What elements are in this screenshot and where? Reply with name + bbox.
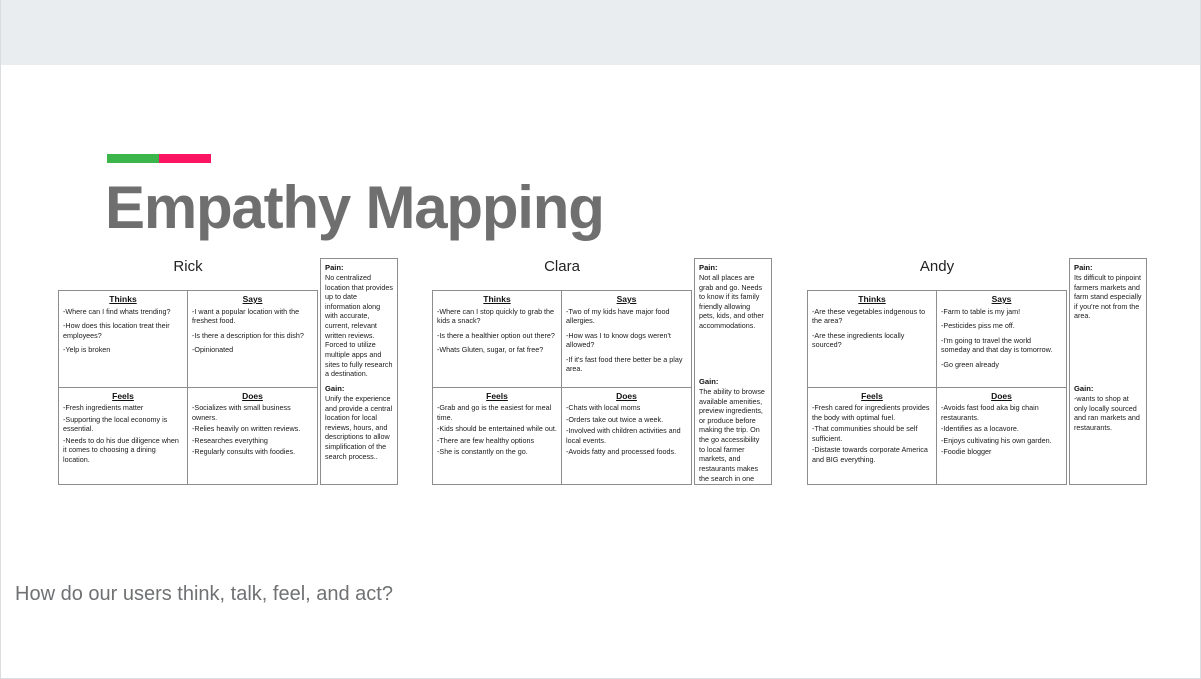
top-toolbar	[1, 0, 1201, 66]
page-title: Empathy Mapping	[105, 176, 604, 241]
quadrant-feels-item: -Supporting the local economy is essenti…	[63, 415, 183, 434]
quadrant-thinks: Thinks-Where can I find whats trending?-…	[59, 291, 188, 388]
quadrant-does: Does-Socializes with small business owne…	[188, 388, 317, 485]
pain-text: Its difficult to pinpoint farmers market…	[1074, 273, 1142, 321]
accent-bar	[107, 154, 211, 163]
quadrant-does-item: -Orders take out twice a week.	[566, 415, 687, 425]
quadrant-thinks-heading: Thinks	[812, 294, 932, 305]
quadrant-does: Does-Avoids fast food aka big chain rest…	[937, 388, 1066, 485]
quadrant-thinks-list: -Are these vegetables indgenous to the a…	[812, 307, 932, 350]
quadrant-does-item: -Identifies as a locavore.	[941, 424, 1062, 434]
quadrant-says-list: -Two of my kids have major food allergie…	[566, 307, 687, 374]
gain-block: Gain:The ability to browse available ame…	[699, 377, 767, 485]
quadrant-says: Says-Two of my kids have major food alle…	[562, 291, 691, 388]
quadrant-thinks-item: -Where can I find whats trending?	[63, 307, 183, 317]
quadrant-does-heading: Does	[566, 391, 687, 402]
quadrant-feels-list: -Grab and go is the easiest for meal tim…	[437, 403, 557, 457]
quadrant-does-item: -Foodie blogger	[941, 447, 1062, 457]
quadrant-feels-item: -Fresh ingredients matter	[63, 403, 183, 413]
quadrant-thinks-heading: Thinks	[437, 294, 557, 305]
quadrant-does-item: -Avoids fatty and processed foods.	[566, 447, 687, 457]
pain-label: Pain:	[699, 263, 767, 273]
quadrant-does-list: -Avoids fast food aka big chain restaura…	[941, 403, 1062, 457]
quadrant-feels-item: -Kids should be entertained while out.	[437, 424, 557, 434]
gain-block: Gain:-wants to shop at only locally sour…	[1074, 384, 1142, 432]
quadrant-says-item: -How was I to know dogs weren't allowed?	[566, 331, 687, 350]
quadrant-feels: Feels-Fresh cared for ingredients provid…	[808, 388, 937, 485]
quadrant-feels-item: -Fresh cared for ingredients provides th…	[812, 403, 932, 422]
pain-label: Pain:	[1074, 263, 1142, 273]
quadrant-does-heading: Does	[941, 391, 1062, 402]
quadrant-thinks-item: -Whats Gluten, sugar, or fat free?	[437, 345, 557, 355]
quadrant-thinks-list: -Where can I stop quickly to grab the ki…	[437, 307, 557, 355]
quadrant-does: Does-Chats with local moms-Orders take o…	[562, 388, 691, 485]
quadrant-says-list: -I want a popular location with the fres…	[192, 307, 313, 355]
quadrant-does-item: -Researches everything	[192, 436, 313, 446]
quadrant-says-item: -Two of my kids have major food allergie…	[566, 307, 687, 326]
quadrant-thinks-item: -Are these ingredients locally sourced?	[812, 331, 932, 350]
slide-canvas: Empathy Mapping How do our users think, …	[1, 66, 1201, 679]
gain-label: Gain:	[1074, 384, 1142, 394]
gain-block: Gain:Unify the experience and provide a …	[325, 384, 393, 461]
quadrant-feels-item: -Grab and go is the easiest for meal tim…	[437, 403, 557, 422]
quadrant-thinks-item: -How does this location treat their empl…	[63, 321, 183, 340]
quadrant-thinks: Thinks-Are these vegetables indgenous to…	[808, 291, 937, 388]
empathy-quadrant-table: Thinks-Where can I find whats trending?-…	[58, 290, 318, 485]
quadrant-says-item: -Go green already	[941, 360, 1062, 370]
quadrant-says-list: -Farm to table is my jam!-Pesticides pis…	[941, 307, 1062, 370]
quadrant-feels-item: -Needs to do his due diligence when it c…	[63, 436, 183, 465]
quadrant-thinks-item: -Yelp is broken	[63, 345, 183, 355]
accent-bar-pink-segment	[159, 154, 211, 163]
gain-label: Gain:	[325, 384, 393, 394]
footer-question: How do our users think, talk, feel, and …	[15, 583, 393, 606]
quadrant-does-list: -Chats with local moms-Orders take out t…	[566, 403, 687, 457]
quadrant-thinks-list: -Where can I find whats trending?-How do…	[63, 307, 183, 355]
quadrant-says-item: -Pesticides piss me off.	[941, 321, 1062, 331]
quadrant-says-item: -Is there a description for this dish?	[192, 331, 313, 341]
quadrant-does-item: -Avoids fast food aka big chain restaura…	[941, 403, 1062, 422]
quadrant-feels: Feels-Fresh ingredients matter-Supportin…	[59, 388, 188, 485]
pain-text: No centralized location that provides up…	[325, 273, 393, 379]
slide-frame: Empathy Mapping How do our users think, …	[0, 0, 1201, 679]
gain-label: Gain:	[699, 377, 767, 387]
quadrant-says-item: -I want a popular location with the fres…	[192, 307, 313, 326]
quadrant-thinks: Thinks-Where can I stop quickly to grab …	[433, 291, 562, 388]
quadrant-does-item: -Enjoys cultivating his own garden.	[941, 436, 1062, 446]
quadrant-thinks-item: -Are these vegetables indgenous to the a…	[812, 307, 932, 326]
pain-text: Not all places are grab and go. Needs to…	[699, 273, 767, 331]
quadrant-says: Says-I want a popular location with the …	[188, 291, 317, 388]
quadrant-thinks-item: -Is there a healthier option out there?	[437, 331, 557, 341]
quadrant-feels-item: -There are few healthy options	[437, 436, 557, 446]
quadrant-feels-item: -She is constantly on the go.	[437, 447, 557, 457]
quadrant-feels-heading: Feels	[437, 391, 557, 402]
gain-text: Unify the experience and provide a centr…	[325, 394, 393, 461]
quadrant-feels-list: -Fresh ingredients matter-Supporting the…	[63, 403, 183, 464]
quadrant-feels: Feels-Grab and go is the easiest for mea…	[433, 388, 562, 485]
quadrant-feels-heading: Feels	[63, 391, 183, 402]
pain-label: Pain:	[325, 263, 393, 273]
persona-name: Andy	[807, 258, 1067, 276]
accent-bar-green-segment	[107, 154, 159, 163]
quadrant-says-item: -I'm going to travel the world someday a…	[941, 336, 1062, 355]
quadrant-does-item: -Regularly consults with foodies.	[192, 447, 313, 457]
quadrant-says: Says-Farm to table is my jam!-Pesticides…	[937, 291, 1066, 388]
gain-text: The ability to browse available amenitie…	[699, 387, 767, 485]
quadrant-does-item: -Relies heavily on written reviews.	[192, 424, 313, 434]
quadrant-thinks-heading: Thinks	[63, 294, 183, 305]
pain-gain-column: Pain:Not all places are grab and go. Nee…	[694, 258, 772, 485]
empathy-quadrant-table: Thinks-Where can I stop quickly to grab …	[432, 290, 692, 485]
quadrant-says-item: -Opinionated	[192, 345, 313, 355]
quadrant-feels-heading: Feels	[812, 391, 932, 402]
quadrant-says-heading: Says	[941, 294, 1062, 305]
quadrant-says-item: -Farm to table is my jam!	[941, 307, 1062, 317]
pain-gain-column: Pain:No centralized location that provid…	[320, 258, 398, 485]
persona-name: Clara	[432, 258, 692, 276]
quadrant-feels-item: -That communities should be self suffici…	[812, 424, 932, 443]
pain-gain-column: Pain:Its difficult to pinpoint farmers m…	[1069, 258, 1147, 485]
persona-name: Rick	[58, 258, 318, 276]
quadrant-says-item: -If it's fast food there better be a pla…	[566, 355, 687, 374]
quadrant-says-heading: Says	[192, 294, 313, 305]
quadrant-does-item: -Chats with local moms	[566, 403, 687, 413]
quadrant-does-item: -Socializes with small business owners.	[192, 403, 313, 422]
quadrant-does-list: -Socializes with small business owners.-…	[192, 403, 313, 457]
quadrant-says-heading: Says	[566, 294, 687, 305]
quadrant-thinks-item: -Where can I stop quickly to grab the ki…	[437, 307, 557, 326]
gain-text: -wants to shop at only locally sourced a…	[1074, 394, 1142, 433]
quadrant-does-heading: Does	[192, 391, 313, 402]
quadrant-feels-list: -Fresh cared for ingredients provides th…	[812, 403, 932, 464]
quadrant-feels-item: -Distaste towards corporate America and …	[812, 445, 932, 464]
empathy-quadrant-table: Thinks-Are these vegetables indgenous to…	[807, 290, 1067, 485]
quadrant-does-item: -Involved with children activities and l…	[566, 426, 687, 445]
